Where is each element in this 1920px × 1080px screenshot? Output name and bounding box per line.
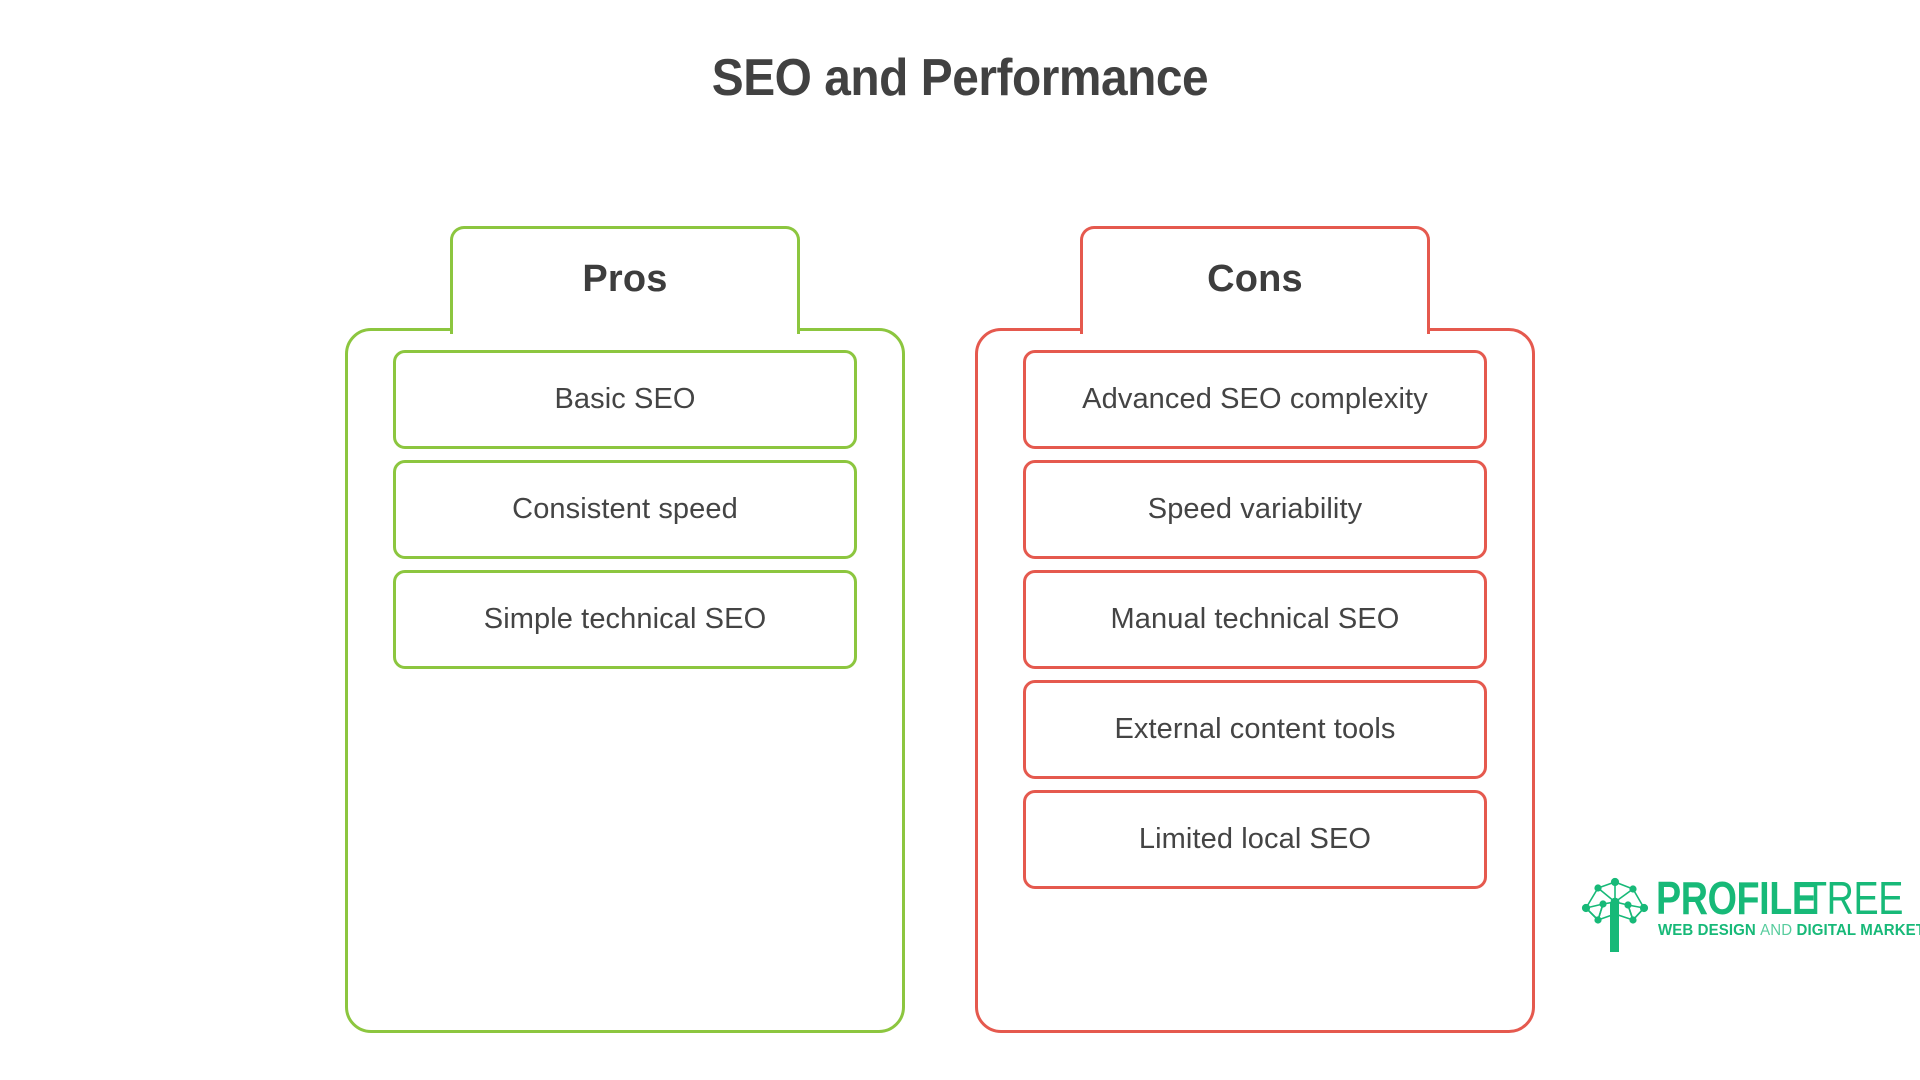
pros-header-label: Pros bbox=[453, 229, 797, 329]
comparison-column-pros: Pros Basic SEO Consistent speed Simple t… bbox=[345, 226, 905, 1033]
list-item[interactable]: Limited local SEO bbox=[1023, 790, 1487, 889]
logo-tagline-part1: WEB DESIGN bbox=[1658, 922, 1756, 939]
logo-tagline-part3: DIGITAL MARKETING bbox=[1796, 922, 1920, 939]
cons-item-label: Limited local SEO bbox=[1129, 823, 1381, 856]
tree-network-icon bbox=[1578, 874, 1652, 952]
logo-word-tree: TREE bbox=[1804, 872, 1903, 924]
pros-item-label: Basic SEO bbox=[544, 383, 705, 416]
cons-item-label: Speed variability bbox=[1138, 493, 1373, 526]
cons-item-list: Advanced SEO complexity Speed variabilit… bbox=[1023, 350, 1487, 900]
pros-item-list: Basic SEO Consistent speed Simple techni… bbox=[393, 350, 857, 680]
pros-tab-merge-mask bbox=[453, 326, 797, 333]
logo-word-profile: PROFILE bbox=[1656, 872, 1817, 924]
cons-item-label: Advanced SEO complexity bbox=[1072, 383, 1438, 416]
list-item[interactable]: Manual technical SEO bbox=[1023, 570, 1487, 669]
list-item[interactable]: Advanced SEO complexity bbox=[1023, 350, 1487, 449]
list-item[interactable]: Consistent speed bbox=[393, 460, 857, 559]
cons-header-label: Cons bbox=[1083, 229, 1427, 329]
cons-tab-merge-mask bbox=[1083, 326, 1427, 333]
list-item[interactable]: Simple technical SEO bbox=[393, 570, 857, 669]
cons-item-label: Manual technical SEO bbox=[1101, 603, 1410, 636]
pros-header-tab: Pros bbox=[450, 226, 800, 334]
list-item[interactable]: Basic SEO bbox=[393, 350, 857, 449]
logo-tagline: WEB DESIGN AND DIGITAL MARKETING bbox=[1658, 922, 1920, 940]
logo-wordmark: PROFILETREE bbox=[1656, 872, 1920, 924]
logo-tagline-part2: AND bbox=[1760, 922, 1792, 939]
cons-item-label: External content tools bbox=[1104, 713, 1405, 746]
list-item[interactable]: External content tools bbox=[1023, 680, 1487, 779]
list-item[interactable]: Speed variability bbox=[1023, 460, 1487, 559]
cons-header-tab: Cons bbox=[1080, 226, 1430, 334]
pros-item-label: Simple technical SEO bbox=[474, 603, 776, 636]
pros-item-label: Consistent speed bbox=[502, 493, 748, 526]
profiletree-logo: PROFILETREE WEB DESIGN AND DIGITAL MARKE… bbox=[1578, 872, 1888, 958]
page-title: SEO and Performance bbox=[77, 48, 1843, 108]
comparison-column-cons: Cons Advanced SEO complexity Speed varia… bbox=[975, 226, 1535, 1033]
